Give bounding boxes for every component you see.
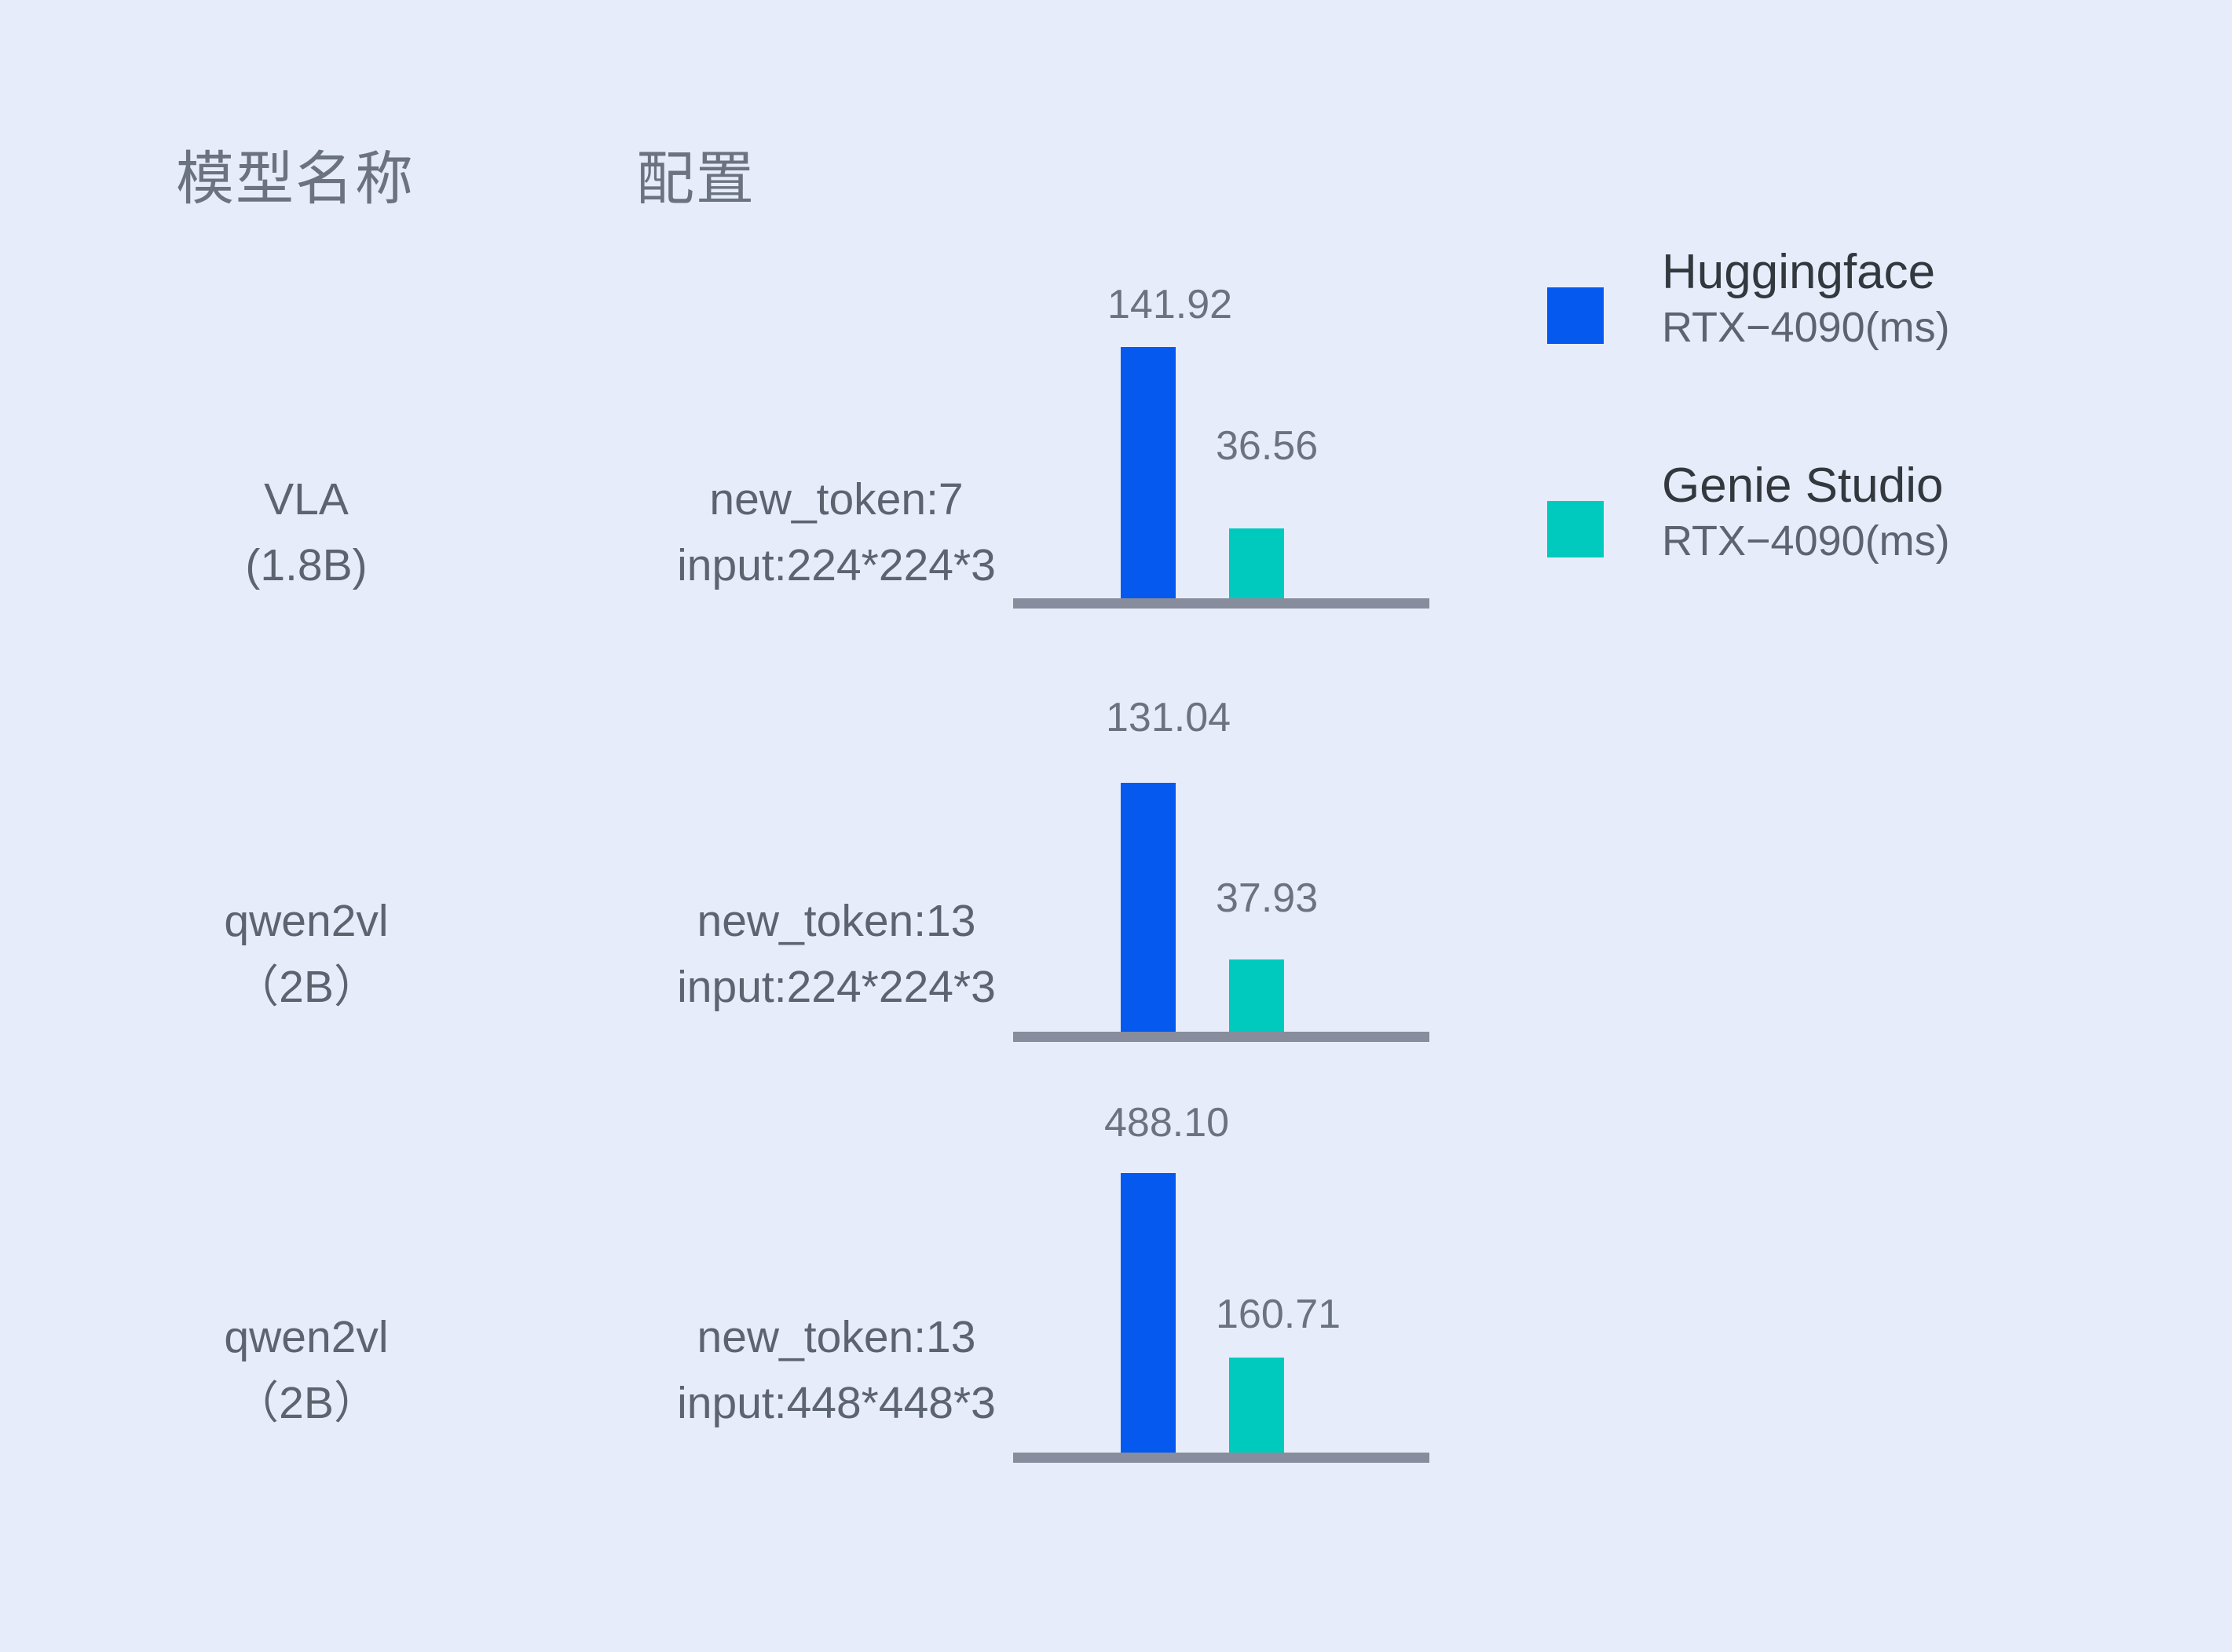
legend-label-sub: RTX−4090(ms) [1662,513,1950,569]
bar-plot: 131.04 37.93 [1013,669,1429,1046]
bar-value-label-genie: 36.56 [1216,422,1318,470]
baseline-axis [1013,1032,1429,1042]
chart-row: qwen2vl （2B） new_token:13 input:448*448*… [0,1077,2232,1517]
model-name-line1: qwen2vl [224,896,388,946]
bar-value-label-genie: 160.71 [1216,1291,1341,1338]
bar-value-label-huggingface: 141.92 [1107,281,1232,328]
model-name-line2: （2B） [141,955,471,1021]
model-name-line1: qwen2vl [224,1312,388,1362]
legend-label-sub: RTX−4090(ms) [1662,299,1950,356]
teal-square-swatch-icon [1547,501,1604,557]
bar-plot: 488.10 160.71 [1013,1077,1429,1466]
bar-huggingface[interactable] [1121,347,1176,598]
config-line1: new_token:13 [697,1312,976,1362]
model-name-cell: qwen2vl （2B） [141,1305,471,1437]
bar-genie-studio[interactable] [1229,959,1284,1032]
bar-huggingface[interactable] [1121,1173,1176,1462]
blue-square-swatch-icon [1547,287,1604,344]
bar-genie-studio[interactable] [1229,528,1284,598]
model-name-cell: VLA (1.8B) [141,467,471,599]
config-line1: new_token:7 [709,474,963,524]
config-line1: new_token:13 [697,896,976,946]
legend-label-name: Huggingface [1662,245,1950,299]
legend-label-name: Genie Studio [1662,459,1950,513]
bar-genie-studio[interactable] [1229,1358,1284,1453]
column-header-model-name: 模型名称 [176,132,415,216]
bar-plot: 141.92 36.56 [1013,236,1429,612]
column-header-config: 配置 [636,132,756,216]
bar-huggingface[interactable] [1121,783,1176,1032]
baseline-axis [1013,1453,1429,1463]
model-name-line2: （2B） [141,1371,471,1437]
bar-value-label-huggingface: 488.10 [1104,1099,1229,1146]
model-name-line1: VLA [264,474,349,524]
model-name-cell: qwen2vl （2B） [141,889,471,1021]
chart-row: qwen2vl （2B） new_token:13 input:224*224*… [0,669,2232,1109]
chart-stage: 模型名称 配置 VLA (1.8B) new_token:7 input:224… [0,0,2232,1652]
bar-value-label-genie: 37.93 [1216,875,1318,922]
model-name-line2: (1.8B) [141,533,471,599]
baseline-axis [1013,598,1429,609]
bar-value-label-huggingface: 131.04 [1106,694,1231,741]
